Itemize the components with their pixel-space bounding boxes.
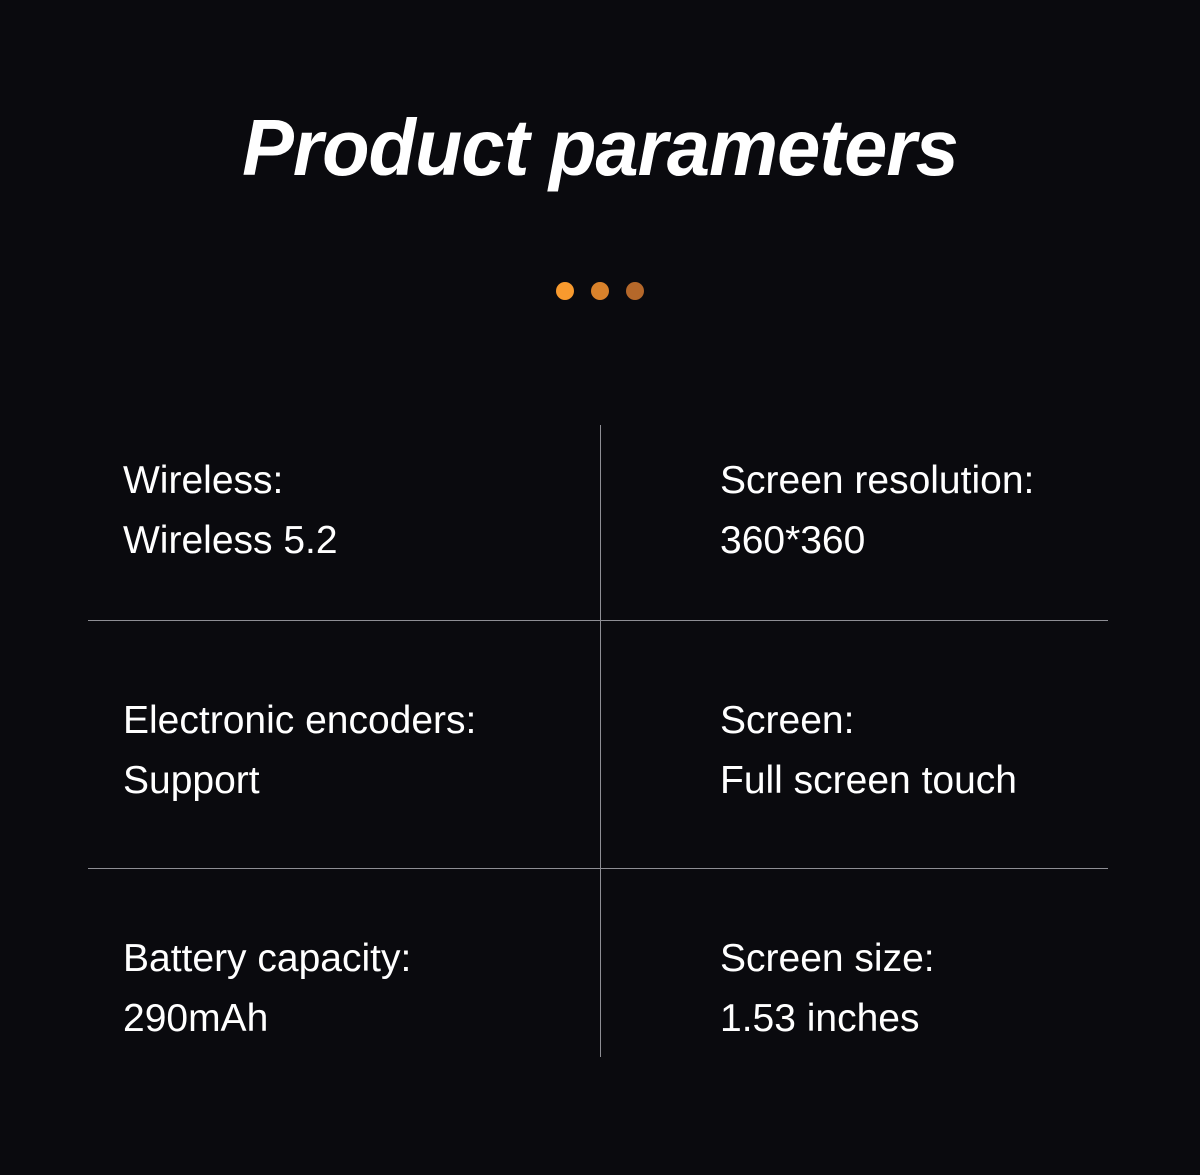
horizontal-divider-1 — [88, 620, 1108, 621]
spec-cell-screen-size: Screen size: 1.53 inches — [720, 929, 1190, 1049]
spec-cell-wireless: Wireless: Wireless 5.2 — [123, 451, 593, 571]
spec-label: Wireless: — [123, 451, 593, 511]
spec-value: Wireless 5.2 — [123, 511, 593, 571]
spec-cell-battery-capacity: Battery capacity: 290mAh — [123, 929, 593, 1049]
vertical-divider — [600, 425, 601, 1057]
decorative-dots — [0, 282, 1200, 300]
spec-value: 1.53 inches — [720, 989, 1190, 1049]
spec-label: Screen resolution: — [720, 451, 1190, 511]
spec-label: Electronic encoders: — [123, 691, 593, 751]
spec-cell-electronic-encoders: Electronic encoders: Support — [123, 691, 593, 811]
spec-label: Screen: — [720, 691, 1190, 751]
dot-2-icon — [591, 282, 609, 300]
spec-cell-screen: Screen: Full screen touch — [720, 691, 1190, 811]
spec-value: Full screen touch — [720, 751, 1190, 811]
spec-value: 360*360 — [720, 511, 1190, 571]
spec-value: Support — [123, 751, 593, 811]
spec-value: 290mAh — [123, 989, 593, 1049]
spec-label: Battery capacity: — [123, 929, 593, 989]
spec-grid: Wireless: Wireless 5.2 Screen resolution… — [88, 425, 1108, 1057]
page-title-container: Product parameters — [0, 100, 1200, 196]
spec-label: Screen size: — [720, 929, 1190, 989]
dot-1-icon — [556, 282, 574, 300]
page-title: Product parameters — [242, 100, 958, 196]
horizontal-divider-2 — [88, 868, 1108, 869]
spec-cell-screen-resolution: Screen resolution: 360*360 — [720, 451, 1190, 571]
dot-3-icon — [626, 282, 644, 300]
